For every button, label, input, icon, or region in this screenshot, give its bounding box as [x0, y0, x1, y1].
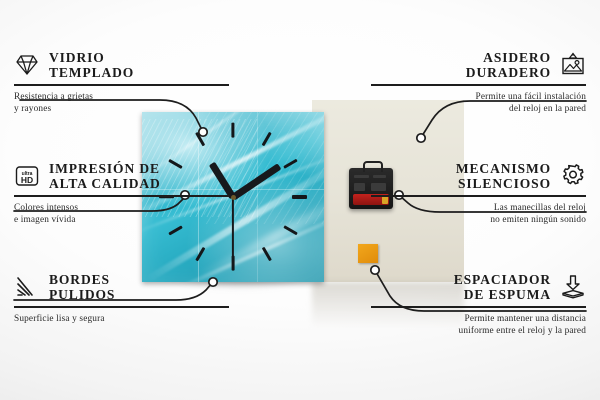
callout-title: ASIDERO DURADERO [466, 50, 551, 80]
clock-center-hub [231, 195, 236, 200]
foam-spacer-sample [358, 244, 378, 263]
mechanism-detail [354, 175, 369, 178]
title-line: BORDES [49, 272, 115, 287]
divider [371, 84, 586, 86]
callout-mecanismo-silencioso[interactable]: MECANISMO SILENCIOSO Las manecillas del … [371, 161, 586, 226]
callout-description: Colores intensos e imagen vívida [14, 202, 229, 227]
divider [371, 306, 586, 308]
hanging-picture-frame-icon [560, 52, 586, 78]
divider [14, 306, 229, 308]
gear-icon [560, 163, 586, 189]
mechanism-detail [354, 183, 365, 191]
clock-tick [292, 195, 307, 198]
callout-title: VIDRIO TEMPLADO [49, 50, 134, 80]
title-line: DURADERO [466, 65, 551, 80]
title-line: DE ESPUMA [454, 287, 551, 302]
infographic-canvas: VIDRIO TEMPLADO Resistencia a grietas y … [0, 0, 600, 400]
title-line: IMPRESIÓN DE [49, 161, 161, 176]
glass-seam [257, 112, 258, 282]
title-line: VIDRIO [49, 50, 134, 65]
clock-tick [231, 123, 234, 138]
polished-edges-icon [14, 274, 40, 300]
title-line: SILENCIOSO [456, 176, 551, 191]
callout-description: Permite una fácil instalación del reloj … [371, 91, 586, 116]
callout-title: MECANISMO SILENCIOSO [456, 161, 551, 191]
clock-tick [168, 225, 183, 235]
callout-description: Superficie lisa y segura [14, 313, 229, 325]
clock-hand-second [232, 197, 234, 259]
divider [14, 84, 229, 86]
callout-description: Resistencia a grietas y rayones [14, 91, 229, 116]
foam-spacer-arrow-icon [560, 274, 586, 300]
svg-text:HD: HD [21, 175, 33, 185]
callout-bordes-pulidos[interactable]: BORDES PULIDOS Superficie lisa y segura [14, 272, 229, 325]
callout-espaciador-de-espuma[interactable]: ESPACIADOR DE ESPUMA Permite mantener un… [371, 272, 586, 337]
title-line: PULIDOS [49, 287, 115, 302]
callout-impresion-alta-calidad[interactable]: ultra HD IMPRESIÓN DE ALTA CALIDAD Color… [14, 161, 229, 226]
title-line: TEMPLADO [49, 65, 134, 80]
diamond-icon [14, 52, 40, 78]
title-line: ALTA CALIDAD [49, 176, 161, 191]
callout-description: Las manecillas del reloj no emiten ningú… [371, 202, 586, 227]
title-line: MECANISMO [456, 161, 551, 176]
callout-title: IMPRESIÓN DE ALTA CALIDAD [49, 161, 161, 191]
callout-title: ESPACIADOR DE ESPUMA [454, 272, 551, 302]
ultra-hd-badge-icon: ultra HD [14, 163, 40, 189]
callout-description: Permite mantener una distancia uniforme … [371, 313, 586, 338]
callout-vidrio-templado[interactable]: VIDRIO TEMPLADO Resistencia a grietas y … [14, 50, 229, 115]
title-line: ASIDERO [466, 50, 551, 65]
divider [14, 195, 229, 197]
callout-title: BORDES PULIDOS [49, 272, 115, 302]
divider [371, 195, 586, 197]
title-line: ESPACIADOR [454, 272, 551, 287]
callout-asidero-duradero[interactable]: ASIDERO DURADERO Permite una fácil insta… [371, 50, 586, 115]
